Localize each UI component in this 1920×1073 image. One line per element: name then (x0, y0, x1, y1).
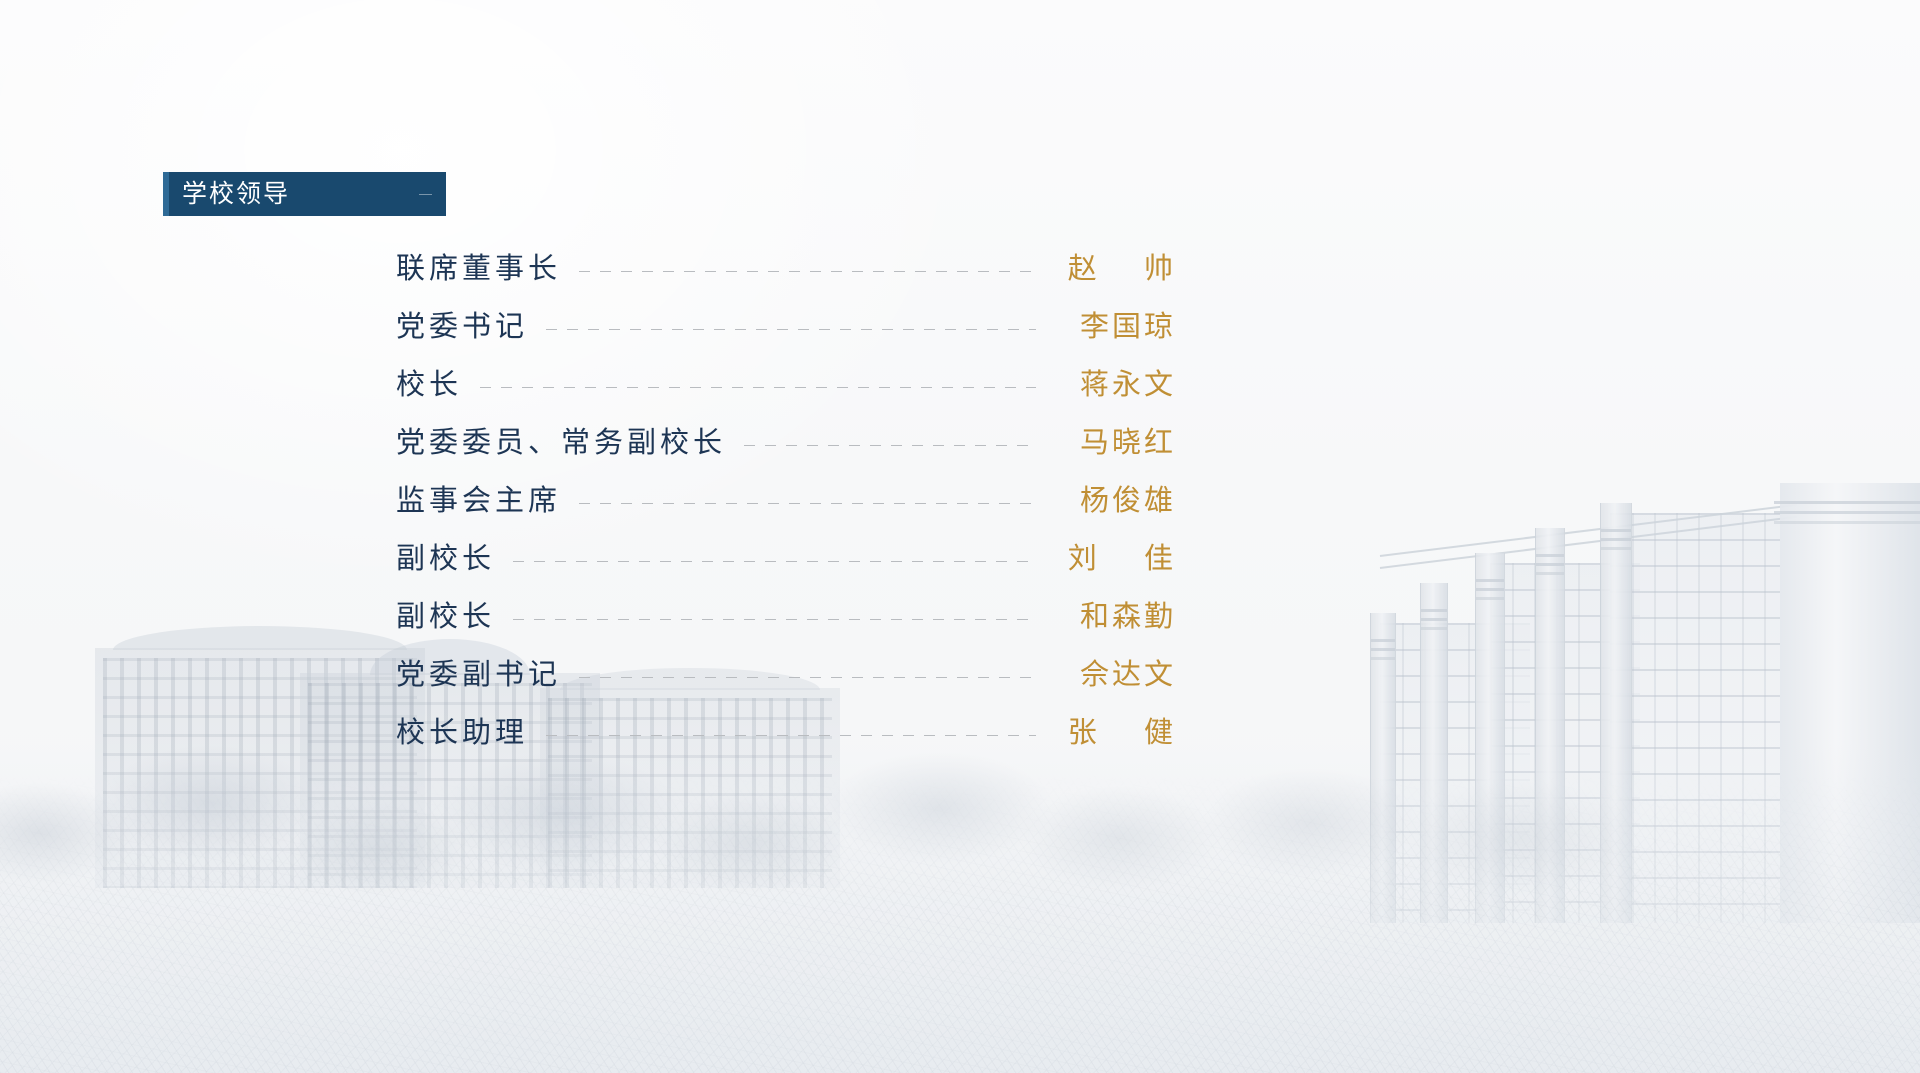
leader-name: 和森勤 (1050, 603, 1176, 632)
list-item: 副校长 和森勤 (396, 588, 1176, 646)
dotted-connector (480, 387, 1036, 388)
list-item: 联席董事长 赵 帅 (396, 240, 1176, 298)
header-accent-bar (163, 172, 169, 216)
leader-position: 校长 (396, 371, 466, 400)
list-item: 党委副书记 佘达文 (396, 646, 1176, 704)
leader-name: 杨俊雄 (1050, 487, 1176, 516)
leader-position: 党委委员、常务副校长 (396, 429, 730, 458)
leader-position: 监事会主席 (396, 487, 565, 516)
leader-position: 联席董事长 (396, 255, 565, 284)
leader-name: 李国琼 (1050, 313, 1176, 342)
dotted-connector (546, 735, 1036, 736)
leader-name: 刘 佳 (1050, 545, 1176, 574)
list-item: 校长 蒋永文 (396, 356, 1176, 414)
page-title: 学校领导 (182, 182, 290, 207)
leader-position: 校长助理 (396, 719, 532, 748)
leader-position: 副校长 (396, 545, 499, 574)
leader-position: 副校长 (396, 603, 499, 632)
leader-position: 党委副书记 (396, 661, 565, 690)
leader-name: 马晓红 (1050, 429, 1176, 458)
dotted-connector (513, 619, 1036, 620)
dotted-connector (579, 271, 1036, 272)
leader-name: 蒋永文 (1050, 371, 1176, 400)
leader-name: 佘达文 (1050, 661, 1176, 690)
header-dash-icon (419, 194, 432, 195)
dotted-connector (579, 677, 1036, 678)
leadership-list: 联席董事长 赵 帅 党委书记 李国琼 校长 蒋永文 党委委员、常务副校长 马晓红… (396, 240, 1176, 762)
dotted-connector (744, 445, 1036, 446)
leader-position: 党委书记 (396, 313, 532, 342)
list-item: 监事会主席 杨俊雄 (396, 472, 1176, 530)
tree-texture (0, 773, 1920, 1073)
dotted-connector (579, 503, 1036, 504)
list-item: 副校长 刘 佳 (396, 530, 1176, 588)
dotted-connector (546, 329, 1036, 330)
dotted-connector (513, 561, 1036, 562)
section-header-banner: 学校领导 (163, 172, 446, 216)
list-item: 党委委员、常务副校长 马晓红 (396, 414, 1176, 472)
list-item: 校长助理 张 健 (396, 704, 1176, 762)
list-item: 党委书记 李国琼 (396, 298, 1176, 356)
leader-name: 张 健 (1050, 719, 1176, 748)
leader-name: 赵 帅 (1050, 255, 1176, 284)
